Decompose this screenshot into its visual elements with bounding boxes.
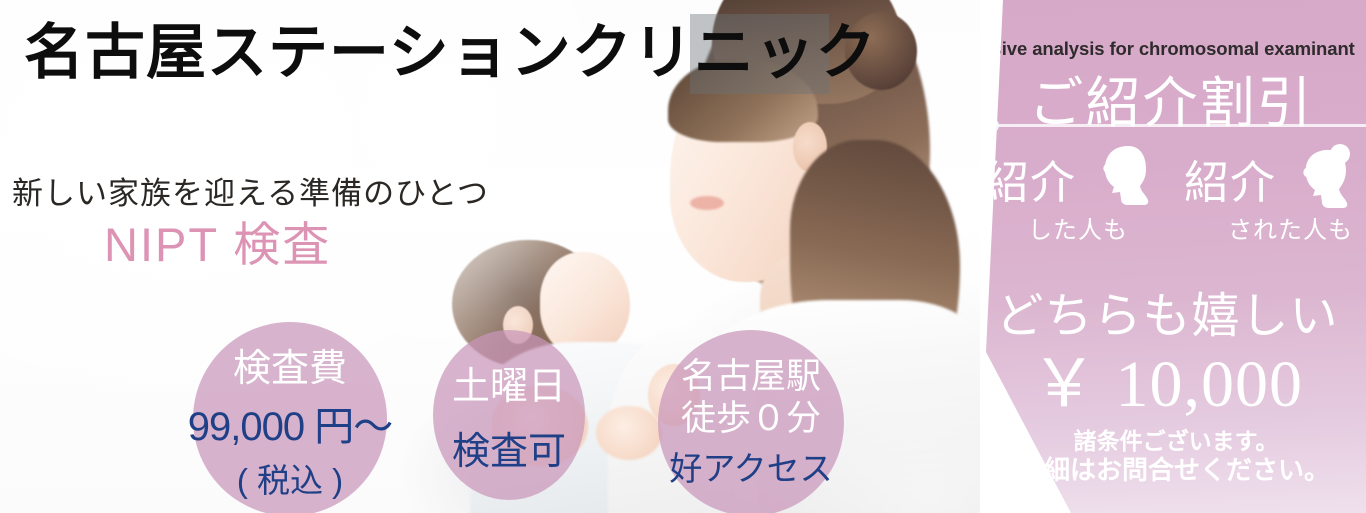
referral-item-referrer: 紹介 した人も <box>984 142 1166 250</box>
service-name: NIPT 検査 <box>104 206 331 275</box>
bubble-examination-fee[interactable]: 検査費 99,000 円〜 ( 税込 ) <box>193 322 387 513</box>
bubble-fee-price: 99,000 円〜 <box>188 394 392 452</box>
woman-silhouette-bun-hair-icon <box>1298 144 1356 214</box>
clinic-name-title: 名古屋ステーションクリニック <box>24 16 844 89</box>
bubble-fee-heading: 検査費 <box>233 337 347 392</box>
woman-silhouette-short-hair-icon <box>1098 144 1156 214</box>
referral-referred-label: 紹介 <box>1184 146 1276 211</box>
discount-amount: ￥ 10,000 <box>968 330 1366 426</box>
baby-second-hand-shape <box>596 406 662 460</box>
decorative-dot-icon <box>984 118 999 133</box>
mother-lips-shape <box>690 196 724 210</box>
bubble-saturday-available[interactable]: 土曜日 検査可 <box>433 330 585 500</box>
referral-referrer-label: 紹介 <box>984 146 1076 211</box>
bubble-station-access[interactable]: 名古屋駅 徒歩０分 好アクセス <box>658 330 844 513</box>
bubble-access-line1: 名古屋駅 <box>681 356 821 397</box>
referral-referred-sub: された人も <box>1228 210 1353 245</box>
bubble-saturday-sub: 検査可 <box>452 420 566 475</box>
referral-referrer-sub: した人も <box>1028 210 1128 245</box>
baby-face-shape <box>540 252 630 356</box>
bubble-access-line2: 徒歩０分 <box>681 398 821 439</box>
bubble-saturday-heading: 土曜日 <box>452 355 566 410</box>
nipt-promo-banner: 名古屋ステーションクリニック 新しい家族を迎える準備のひとつ NIPT 検査 検… <box>0 0 1366 513</box>
bubble-fee-tax-note: ( 税込 ) <box>237 454 343 502</box>
bubble-access-sub: 好アクセス <box>669 442 832 490</box>
referral-items-row: 紹介 した人も 紹介 <box>984 142 1366 250</box>
decorative-rule <box>991 124 1366 127</box>
referral-item-referred: 紹介 された人も <box>1184 142 1366 250</box>
conditions-note-line-2: 詳細はお問合せください。 <box>988 450 1360 487</box>
